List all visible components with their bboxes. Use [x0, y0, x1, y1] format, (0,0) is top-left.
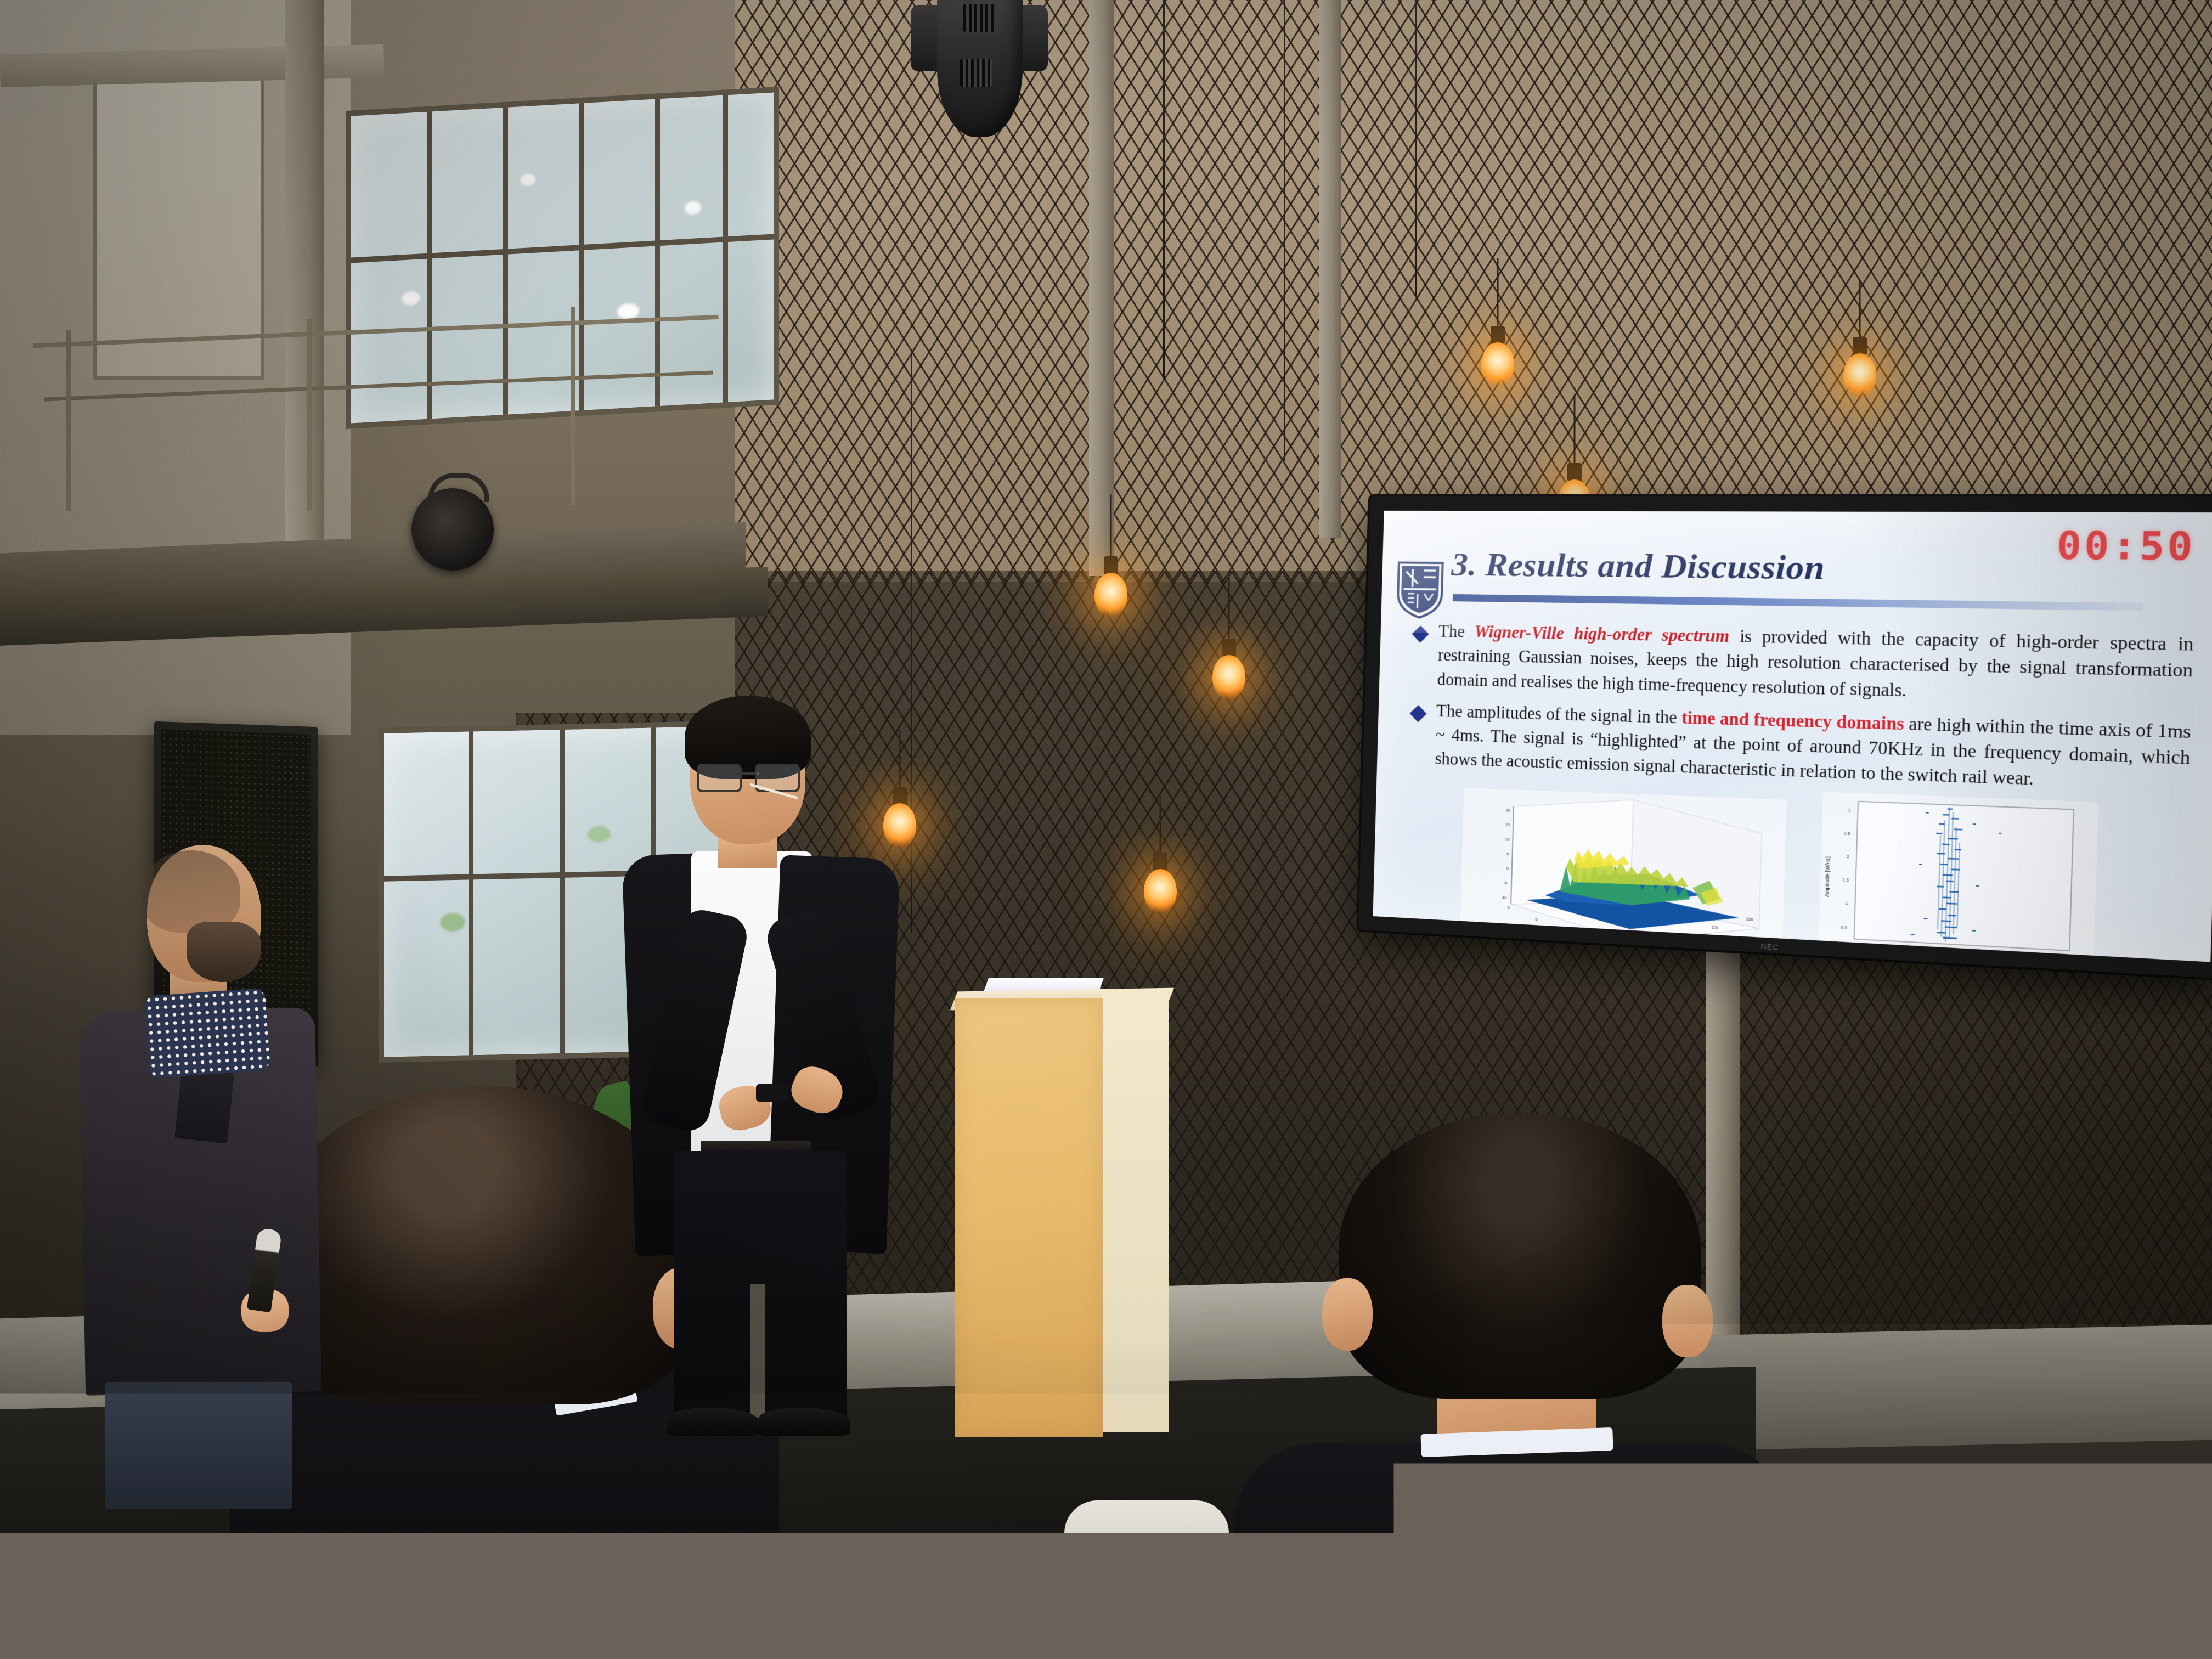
- moderator: [82, 845, 335, 1503]
- railing-post: [307, 319, 312, 511]
- svg-text:2: 2: [1847, 854, 1849, 860]
- svg-text:1.5: 1.5: [1842, 877, 1849, 883]
- beard: [187, 922, 261, 982]
- university-crest-icon: [1395, 559, 1445, 619]
- ear: [1322, 1278, 1373, 1351]
- lectern-side-panel: [1102, 989, 1169, 1432]
- diamond-bullet-icon: [1412, 625, 1429, 642]
- svg-text:Amplitude [W/Hz]: Amplitude [W/Hz]: [1824, 856, 1831, 897]
- svg-text:0: 0: [1506, 867, 1509, 871]
- leg-gap: [751, 1284, 765, 1432]
- audience-suit: [1234, 1443, 1788, 1659]
- cable-reel: [411, 488, 494, 571]
- eyeglasses-icon: [697, 764, 800, 788]
- light-vent: [963, 4, 995, 32]
- ear: [1662, 1285, 1713, 1357]
- lectern: [955, 982, 1169, 1437]
- chair-front-right[interactable]: [1915, 1542, 2096, 1659]
- photograph-scene: 00:50 3. Results and Discussion The Wign…: [0, 0, 2212, 1659]
- presentation-clicker[interactable]: [756, 1084, 788, 1102]
- slide-bullet: The Wigner-Ville high-order spectrum is …: [1403, 619, 2194, 710]
- slide-bullet-list: The Wigner-Ville high-order spectrum is …: [1401, 619, 2194, 806]
- svg-text:-5: -5: [1504, 882, 1508, 886]
- moderator-trousers: [105, 1383, 292, 1509]
- audience-hair: [1339, 1114, 1701, 1399]
- railing-post: [571, 307, 575, 505]
- svg-text:15: 15: [1505, 823, 1510, 828]
- svg-text:3: 3: [1848, 808, 1851, 813]
- presentation-screen[interactable]: 00:50 3. Results and Discussion The Wign…: [1358, 496, 2212, 979]
- screen-brand-label: NEC: [1760, 942, 1779, 952]
- svg-text:20: 20: [1505, 809, 1510, 813]
- railing-post: [66, 330, 71, 511]
- bulb-cord: [1415, 0, 1417, 296]
- bulb-cord: [1163, 0, 1165, 379]
- slide-title: 3. Results and Discussion: [1451, 545, 1826, 588]
- svg-text:0.5: 0.5: [1841, 925, 1848, 930]
- audience-member-front-right: [1256, 1114, 1761, 1659]
- lectern-front-panel: [955, 998, 1103, 1437]
- column-upper: [1089, 0, 1114, 576]
- countdown-timer: 00:50: [2056, 524, 2196, 569]
- svg-text:5: 5: [1535, 918, 1537, 922]
- column-upper-2: [1319, 0, 1341, 538]
- structural-pillar: [285, 0, 324, 592]
- bullet-text-1: The Wigner-Ville high-order spectrum is …: [1437, 619, 2194, 710]
- shoe: [667, 1408, 759, 1436]
- shoe: [758, 1408, 850, 1436]
- svg-text:0: 0: [1508, 906, 1510, 910]
- light-vent: [960, 59, 992, 87]
- shaved-head: [142, 850, 240, 933]
- light-body: [937, 0, 1023, 137]
- diamond-bullet-icon: [1410, 705, 1427, 722]
- svg-text:2.5: 2.5: [1844, 831, 1850, 836]
- svg-text:10: 10: [1505, 838, 1509, 842]
- moving-head-light-icon: [911, 0, 1048, 148]
- svg-text:5: 5: [1506, 853, 1509, 856]
- chair-front-left[interactable]: [1064, 1500, 1229, 1659]
- bulb-cord: [1284, 0, 1285, 461]
- figure-25d-scatter: 32.52 1.510.5 204060 80100120140 Frequen…: [1818, 792, 2098, 962]
- svg-text:1: 1: [1846, 901, 1848, 906]
- svg-text:-10: -10: [1501, 896, 1507, 900]
- svg-text:150: 150: [1746, 918, 1753, 922]
- speaker: [609, 702, 916, 1426]
- svg-text:100: 100: [1712, 926, 1719, 930]
- patterned-scarf: [144, 988, 270, 1079]
